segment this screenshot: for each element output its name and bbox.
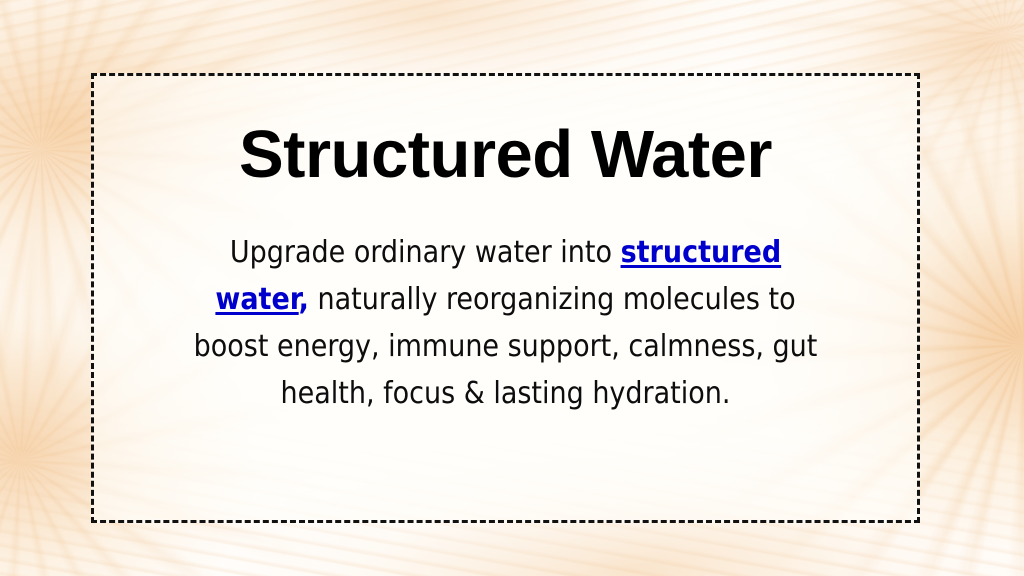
dashed-content-box: Structured Water Upgrade ordinary water …: [91, 73, 920, 523]
page-title: Structured Water: [94, 121, 917, 188]
slide-canvas: Structured Water Upgrade ordinary water …: [0, 0, 1024, 576]
link-trailing-comma: ,: [299, 282, 309, 317]
body-lead-text: Upgrade ordinary water into: [230, 235, 621, 270]
body-paragraph: Upgrade ordinary water into structured w…: [186, 229, 826, 417]
